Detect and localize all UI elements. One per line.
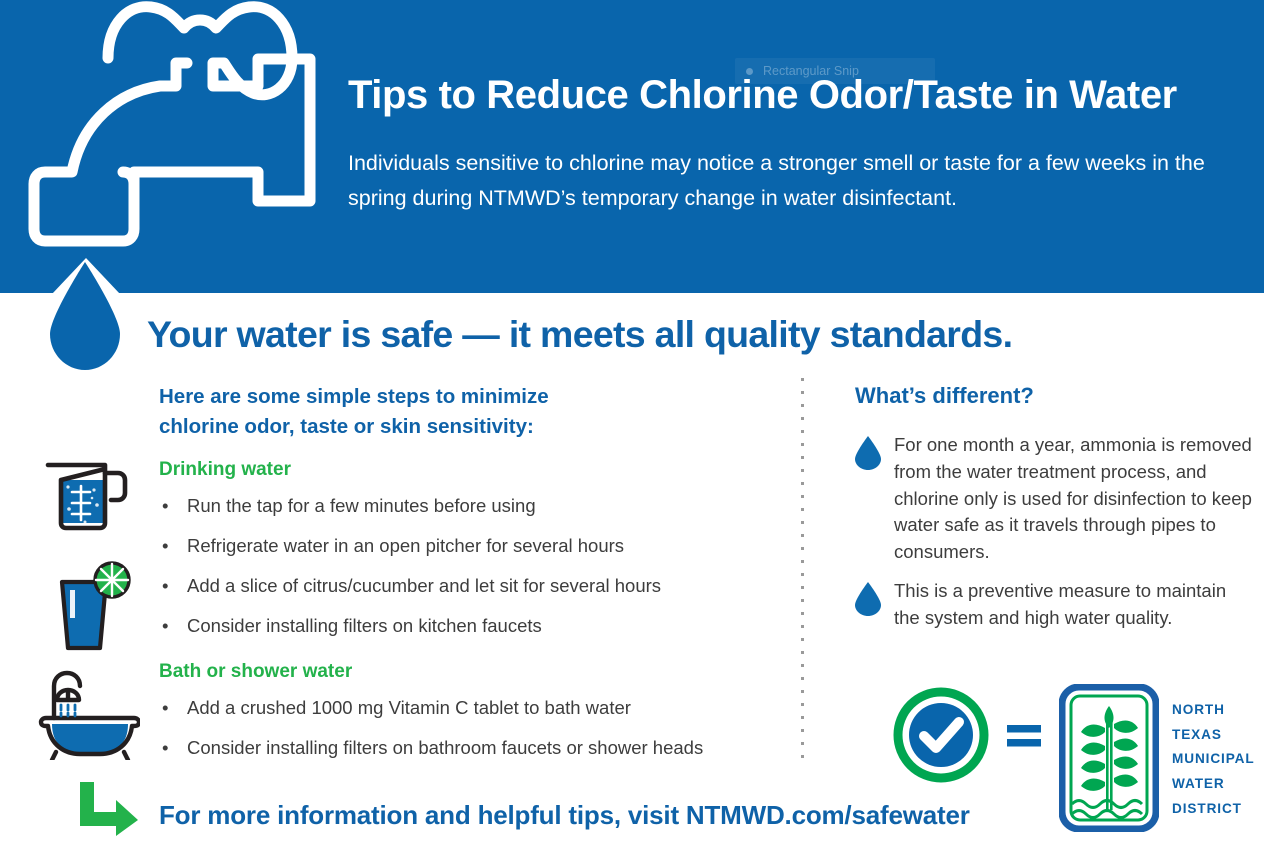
water-drop-bullet-icon <box>855 582 881 616</box>
bullet-icon: • <box>162 535 168 557</box>
main-headline: Your water is safe — it meets all qualit… <box>147 313 1257 356</box>
water-drop-icon <box>50 262 120 370</box>
cta-link[interactable]: For more information and helpful tips, v… <box>159 800 970 831</box>
vertical-dotted-divider <box>801 378 804 762</box>
ntmwd-logo-wordmark: NORTH TEXAS MUNICIPAL WATER DISTRICT <box>1172 698 1264 822</box>
check-circle-icon <box>893 687 989 783</box>
section-heading-bath-shower-water: Bath or shower water <box>159 661 352 683</box>
logo-line-north: NORTH <box>1172 698 1264 723</box>
list-item-text: For one month a year, ammonia is removed… <box>894 432 1254 566</box>
arrow-right-down-icon <box>76 782 138 836</box>
page-title: Tips to Reduce Chlorine Odor/Taste in Wa… <box>348 74 1248 117</box>
bullet-text: Consider installing filters on bathroom … <box>187 737 703 759</box>
bullet-text: Run the tap for a few minutes before usi… <box>187 495 536 517</box>
bullet-text: Add a slice of citrus/cucumber and let s… <box>187 575 661 597</box>
left-lead-line-1: Here are some simple steps to minimize <box>159 382 779 412</box>
right-column-heading: What’s different? <box>855 383 1034 409</box>
logo-line-water: WATER <box>1172 772 1264 797</box>
infographic-page: Rectangular Snip Tips to Reduce Chlorine… <box>0 0 1264 856</box>
bullet-text: Refrigerate water in an open pitcher for… <box>187 535 624 557</box>
bullet-text: Consider installing filters on kitchen f… <box>187 615 542 637</box>
logo-line-municipal: MUNICIPAL <box>1172 747 1264 772</box>
logo-line-texas: TEXAS <box>1172 723 1264 748</box>
faucet-icon <box>10 0 340 261</box>
glass-with-citrus-icon <box>50 558 138 656</box>
bullet-icon: • <box>162 495 168 517</box>
pitcher-icon <box>42 460 140 544</box>
ntmwd-plant-logo-icon <box>1059 684 1159 832</box>
bathtub-shower-icon <box>36 668 140 760</box>
left-column-lead: Here are some simple steps to minimize c… <box>159 382 779 441</box>
logo-line-district: DISTRICT <box>1172 797 1264 822</box>
bullet-icon: • <box>162 737 168 759</box>
water-drop-bullet-icon <box>855 436 881 470</box>
bullet-icon: • <box>162 697 168 719</box>
bullet-icon: • <box>162 575 168 597</box>
bullet-text: Add a crushed 1000 mg Vitamin C tablet t… <box>187 697 631 719</box>
section-heading-drinking-water: Drinking water <box>159 459 291 481</box>
left-lead-line-2: chlorine odor, taste or skin sensitivity… <box>159 412 779 442</box>
bullet-icon: • <box>162 615 168 637</box>
header-band: Rectangular Snip Tips to Reduce Chlorine… <box>0 0 1264 293</box>
equals-sign <box>1007 718 1041 752</box>
page-subtitle: Individuals sensitive to chlorine may no… <box>348 146 1246 216</box>
list-item-text: This is a preventive measure to maintain… <box>894 578 1254 632</box>
